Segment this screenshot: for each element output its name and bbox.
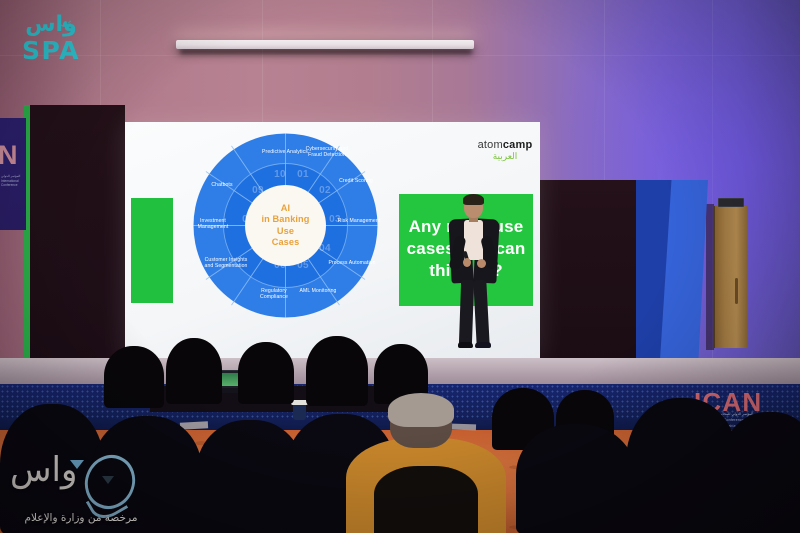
presenter-hand-left: [463, 258, 471, 267]
audience-member: [720, 412, 800, 533]
watermark: واس مرخصة من وزارة والإعلام: [6, 450, 156, 528]
left-banner-subtitle-1: المؤتمر الدولي: [1, 174, 20, 178]
wheel-hub-title: AI in Banking Use Cases: [262, 203, 310, 249]
hub-line-2: in Banking: [262, 214, 310, 224]
presenter-leg-left: [459, 280, 474, 346]
atomcamp-logo: atomcamp العربية: [455, 139, 555, 162]
valance-shadow: [180, 49, 472, 54]
audience-member: [238, 342, 294, 404]
left-banner-subtitle-2: International Conference: [1, 179, 26, 187]
audience-member: [516, 424, 636, 533]
brand-name-bold: camp: [503, 139, 533, 151]
audience-member: [104, 346, 164, 408]
wheel-number-10: 10: [269, 169, 291, 180]
spa-logo-latin: SPA: [14, 36, 88, 65]
ceiling-light-valance: [176, 40, 474, 49]
foreground-attendee-hair: [388, 393, 454, 427]
brand-name-light: atom: [478, 139, 503, 151]
left-banner-title: N: [0, 140, 19, 171]
door-handle[interactable]: [735, 278, 738, 304]
hub-line-1: AI: [281, 203, 290, 213]
wheel-hub: AI in Banking Use Cases: [245, 185, 326, 266]
wheel-number-02: 02: [314, 185, 336, 196]
foreground-attendee: [338, 396, 528, 533]
brand-arabic: العربية: [455, 151, 555, 162]
hub-line-4: Cases: [272, 237, 300, 247]
presenter-leg-right: [473, 280, 489, 347]
watermark-caption: مرخصة من وزارة والإعلام: [6, 512, 156, 524]
left-ican-banner: N المؤتمر الدولي International Conferenc…: [0, 118, 26, 230]
ai-banking-use-cases-wheel: Predictive Analytics Cybersecurity and F…: [193, 133, 378, 318]
watermark-triangle-icon: [70, 460, 84, 469]
spa-agency-logo: واس ☙ SPA: [14, 12, 88, 64]
presenter-legs: [458, 280, 490, 348]
wooden-door[interactable]: [713, 206, 748, 348]
presenter-shoe-right: [475, 342, 491, 348]
glasses-icon: [465, 203, 482, 207]
watermark-arabic-mark: واس: [10, 450, 77, 490]
paper-cup: [293, 404, 306, 420]
foreground-attendee-inner-layer: [374, 466, 478, 533]
hub-line-3: Use: [277, 226, 294, 236]
palm-tree-icon: ☙: [58, 16, 74, 34]
spa-logo-arabic: واس: [14, 12, 88, 37]
wheel-number-01: 01: [292, 169, 314, 180]
audience-member: [166, 338, 222, 404]
presenter-shoe-left: [458, 342, 473, 348]
backdrop-panel-left: [30, 105, 125, 365]
exit-sign-icon: [718, 198, 744, 207]
brand-name: atomcamp: [455, 139, 555, 151]
presenter: [444, 196, 504, 356]
backdrop-panel-right: [540, 180, 638, 360]
wheel-number-03: 03: [324, 214, 346, 225]
watermark-triangle-icon: [102, 476, 114, 484]
presenter-hand-right: [477, 259, 486, 268]
conference-photo-scene: N المؤتمر الدولي International Conferenc…: [0, 0, 800, 533]
slide-green-block-left: [131, 198, 173, 303]
